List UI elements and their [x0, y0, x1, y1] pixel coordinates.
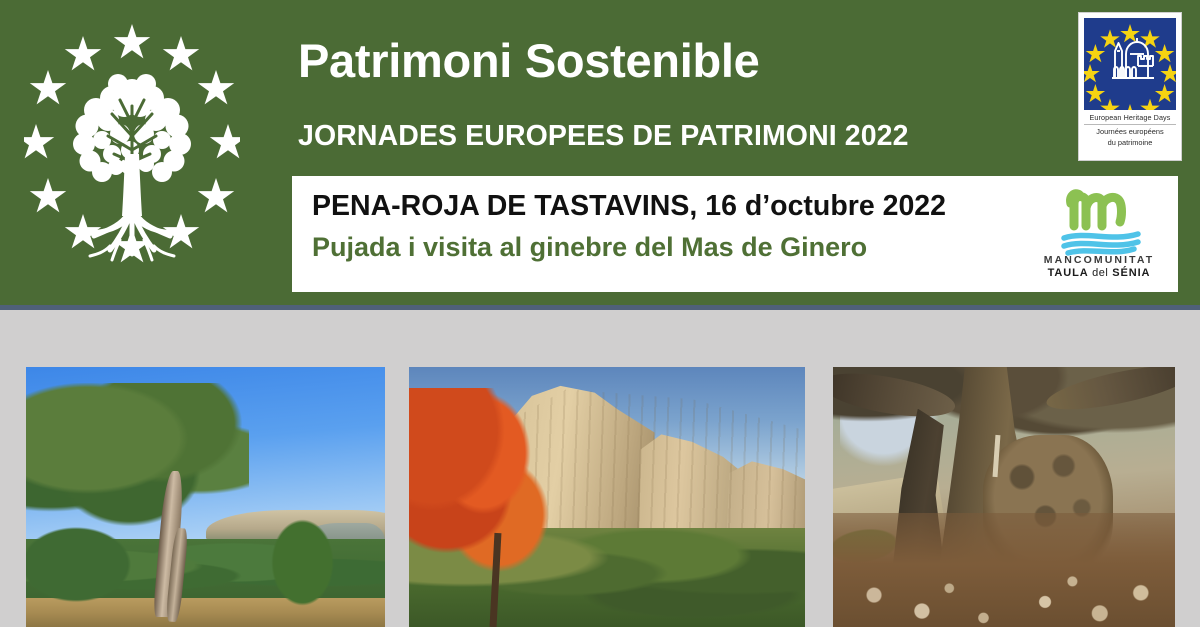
autumn-red-tree: [409, 388, 567, 580]
mancomunitat-senia: SÉNIA: [1112, 267, 1150, 279]
event-location-and-date: PENA-ROJA DE TASTAVINS, 16 d’octubre 202…: [312, 190, 946, 223]
header-band: Patrimoni Sostenible JORNADES EUROPEES D…: [0, 0, 1200, 305]
poster-root: Patrimoni Sostenible JORNADES EUROPEES D…: [0, 0, 1200, 627]
juniper-canopy: [26, 383, 249, 529]
tree-of-life-with-eu-stars-emblem: [24, 14, 240, 286]
ehd-caption-fr-line1: Journées européens: [1084, 125, 1176, 137]
photo-cliffs-scene: [409, 367, 805, 627]
mancomunitat-taula: TAULA: [1048, 267, 1089, 279]
photo-limestone-cliffs: [409, 367, 805, 627]
photo-juniper-scene: [26, 367, 385, 627]
event-info-box: PENA-ROJA DE TASTAVINS, 16 d’octubre 202…: [292, 176, 1178, 292]
poster-main-title: Patrimoni Sostenible: [298, 36, 759, 85]
photo-juniper-tree: [26, 367, 385, 627]
header-bottom-separator: [0, 305, 1200, 310]
ehd-caption-en: European Heritage Days: [1084, 113, 1176, 125]
mancomunitat-wordmark: MANCOMUNITAT TAULA del SÉNIA: [1034, 254, 1164, 281]
photo-trunk-scene: [833, 367, 1175, 627]
european-heritage-days-logo: European Heritage Days Journées européen…: [1078, 12, 1182, 161]
mancomunitat-mark-icon: [1034, 182, 1164, 256]
small-conifer: [263, 518, 342, 617]
foreground-shrub: [26, 523, 137, 606]
stony-ground: [833, 513, 1175, 627]
event-activity-description: Pujada i visita al ginebre del Mas de Gi…: [312, 232, 867, 263]
mancomunitat-name-line2: TAULA del SÉNIA: [1034, 267, 1164, 281]
poster-subtitle: JORNADES EUROPEES DE PATRIMONI 2022: [298, 120, 909, 153]
photo-ancient-trunk: [833, 367, 1175, 627]
mancomunitat-taula-del-senia-logo: MANCOMUNITAT TAULA del SÉNIA: [1034, 182, 1164, 286]
ehd-caption: European Heritage Days Journées européen…: [1084, 113, 1176, 148]
ehd-caption-fr-line2: du patrimoine: [1084, 138, 1176, 148]
eu-flag-with-monuments-icon: [1084, 18, 1176, 110]
mancomunitat-del: del: [1092, 267, 1108, 279]
mancomunitat-name-line1: MANCOMUNITAT: [1034, 254, 1164, 267]
